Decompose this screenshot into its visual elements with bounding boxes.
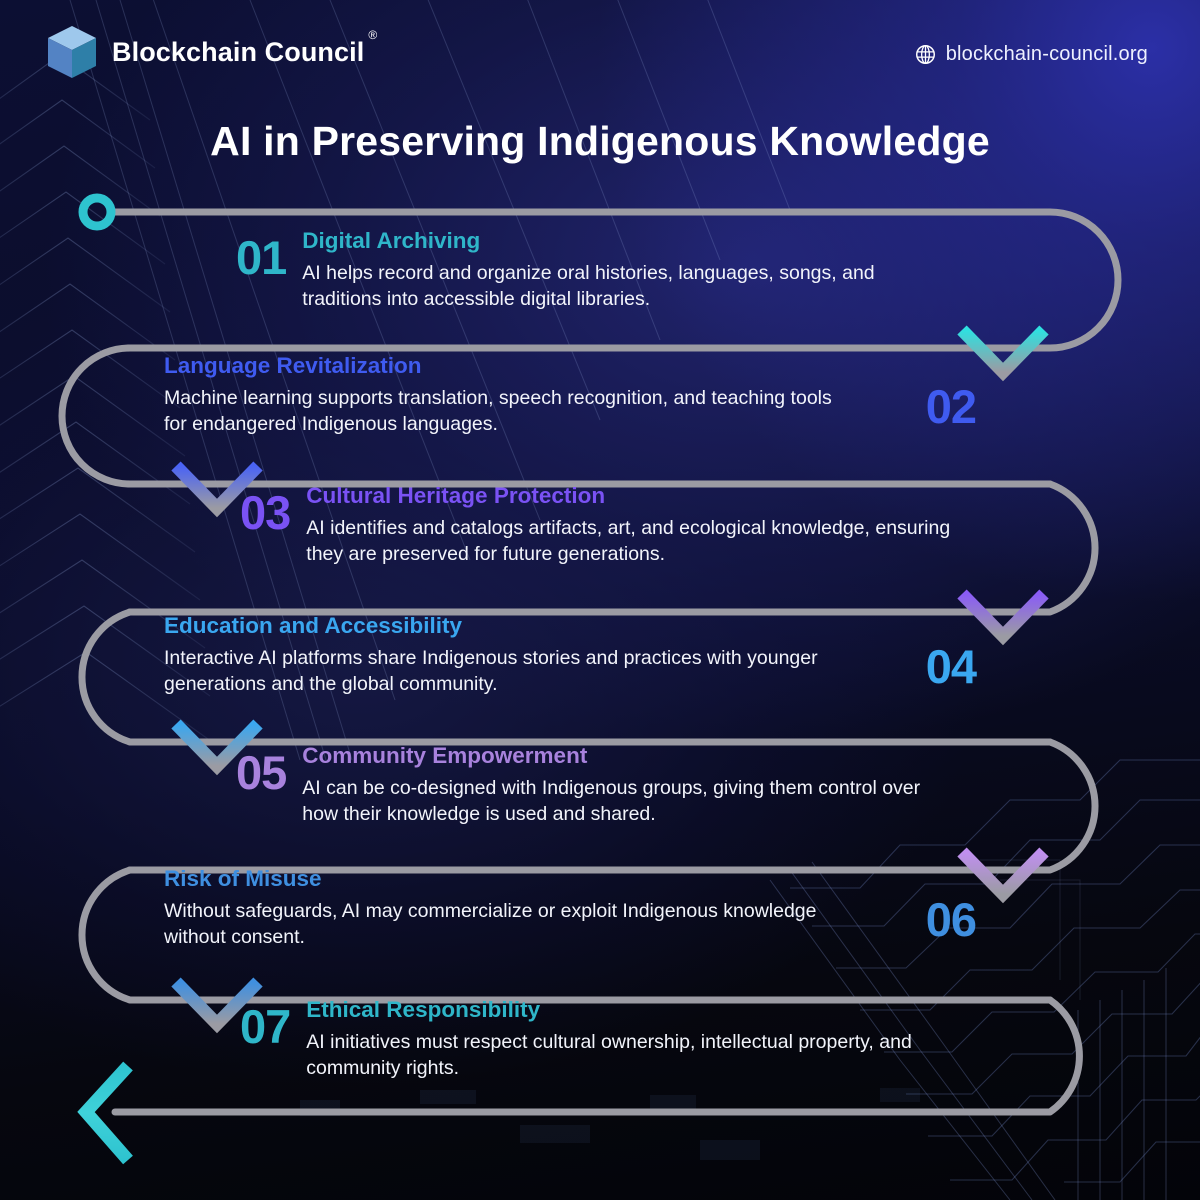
cube-icon — [46, 24, 98, 80]
step-title-07: Ethical Responsibility — [306, 997, 926, 1023]
website-link[interactable]: blockchain-council.org — [915, 43, 1148, 66]
step-number-02: 02 — [926, 383, 976, 430]
step-description-07: AI initiatives must respect cultural own… — [306, 1029, 926, 1081]
step-row-05: 05 Community Empowerment AI can be co-de… — [236, 743, 1066, 827]
step-number-01: 01 — [236, 234, 286, 281]
page-title: AI in Preserving Indigenous Knowledge — [0, 118, 1200, 165]
step-row-06: Risk of Misuse Without safeguards, AI ma… — [164, 866, 976, 950]
step-number-05: 05 — [236, 749, 286, 796]
step-description-06: Without safeguards, AI may commercialize… — [164, 898, 864, 950]
step-number-03: 03 — [240, 489, 290, 536]
step-row-01: 01 Digital Archiving AI helps record and… — [236, 228, 1066, 312]
step-title-02: Language Revitalization — [164, 353, 854, 379]
arrow-end-left-icon — [86, 1066, 128, 1160]
step-title-01: Digital Archiving — [302, 228, 892, 254]
website-url: blockchain-council.org — [946, 43, 1148, 66]
globe-icon — [915, 44, 936, 65]
brand-name: Blockchain Council ® — [112, 37, 364, 68]
step-description-03: AI identifies and catalogs artifacts, ar… — [306, 515, 978, 567]
step-description-02: Machine learning supports translation, s… — [164, 385, 854, 437]
step-number-04: 04 — [926, 643, 976, 690]
step-description-05: AI can be co-designed with Indigenous gr… — [302, 775, 942, 827]
step-number-07: 07 — [240, 1003, 290, 1050]
step-title-04: Education and Accessibility — [164, 613, 894, 639]
brand-name-text: Blockchain Council — [112, 37, 364, 67]
step-row-03: 03 Cultural Heritage Protection AI ident… — [240, 483, 1070, 567]
step-title-05: Community Empowerment — [302, 743, 942, 769]
step-description-04: Interactive AI platforms share Indigenou… — [164, 645, 894, 697]
step-row-07: 07 Ethical Responsibility AI initiatives… — [240, 997, 1070, 1081]
step-title-06: Risk of Misuse — [164, 866, 864, 892]
infographic-canvas: Blockchain Council ® blockchain-council.… — [0, 0, 1200, 1200]
step-row-02: Language Revitalization Machine learning… — [164, 353, 976, 437]
brand-logo[interactable]: Blockchain Council ® — [46, 24, 364, 80]
header: Blockchain Council ® blockchain-council.… — [0, 0, 1200, 104]
step-number-06: 06 — [926, 896, 976, 943]
trademark-symbol: ® — [368, 28, 377, 42]
start-marker-icon — [83, 198, 111, 226]
step-row-04: Education and Accessibility Interactive … — [164, 613, 976, 697]
step-description-01: AI helps record and organize oral histor… — [302, 260, 892, 312]
step-title-03: Cultural Heritage Protection — [306, 483, 978, 509]
